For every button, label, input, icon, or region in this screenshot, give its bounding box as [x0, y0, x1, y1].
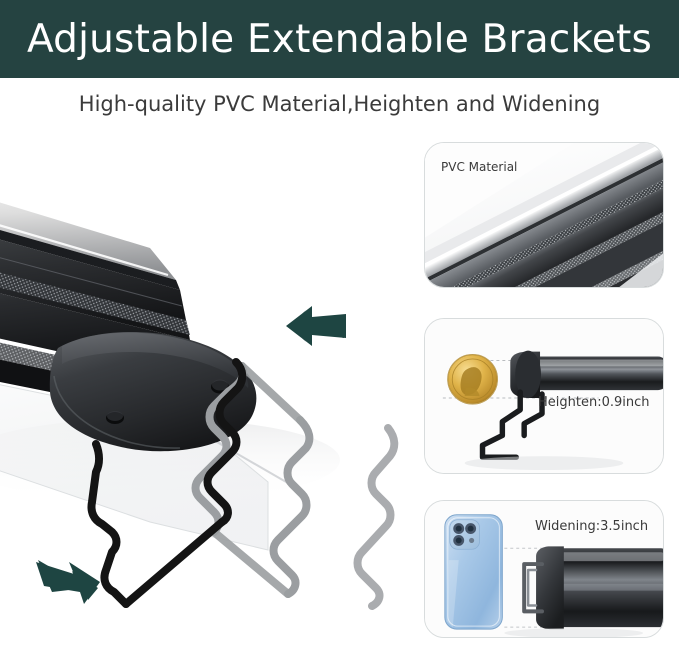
pvc-material-card: PVC Material: [424, 142, 664, 288]
product-illustration: [0, 130, 412, 648]
widening-measurement-card: Widening:3.5inch: [424, 500, 664, 638]
end-cap: [536, 546, 564, 629]
page-title: Adjustable Extendable Brackets: [27, 17, 652, 62]
hero-product-image: [0, 130, 412, 648]
gold-dollar-coin: [448, 355, 498, 404]
camera-module: [450, 520, 480, 550]
header-banner: Adjustable Extendable Brackets: [0, 0, 679, 78]
product-marketing-image: Adjustable Extendable Brackets High-qual…: [0, 0, 679, 648]
pvc-material-label: PVC Material: [441, 160, 517, 174]
heighten-label: Heighten:0.9inch: [538, 395, 650, 410]
widening-label: Widening:3.5inch: [535, 519, 648, 534]
subtitle-text: High-quality PVC Material,Heighten and W…: [79, 92, 600, 116]
light-bar-widened: [536, 546, 663, 629]
heighten-measurement-card: Heighten:0.9inch: [424, 318, 664, 474]
blue-smartphone: [445, 515, 503, 629]
subtitle-bar: High-quality PVC Material,Heighten and W…: [0, 78, 679, 130]
